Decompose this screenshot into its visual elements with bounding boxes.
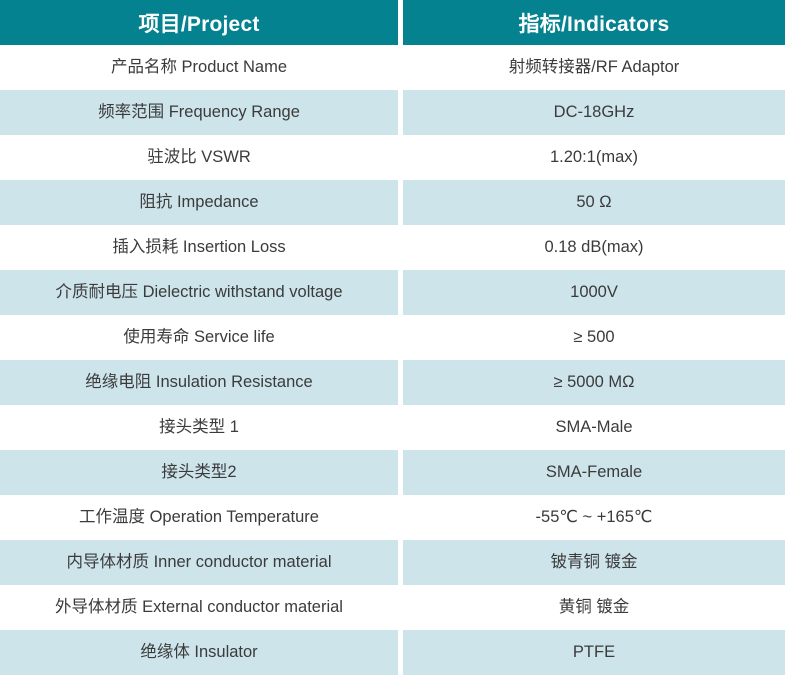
cell-project: 外导体材质 External conductor material (0, 585, 398, 630)
cell-indicator: 铍青铜 镀金 (403, 540, 785, 585)
cell-project: 介质耐电压 Dielectric withstand voltage (0, 270, 398, 315)
cell-indicator: DC-18GHz (403, 90, 785, 135)
table-row: 阻抗 Impedance50 Ω (0, 180, 800, 225)
table-row: 产品名称 Product Name射频转接器/RF Adaptor (0, 45, 800, 90)
cell-indicator: 1.20:1(max) (403, 135, 785, 180)
cell-right-margin (785, 540, 800, 585)
cell-indicator: ≥ 5000 MΩ (403, 360, 785, 405)
table-row: 工作温度 Operation Temperature-55℃ ~ +165℃ (0, 495, 800, 540)
cell-right-margin (785, 495, 800, 540)
table-row: 绝缘体 InsulatorPTFE (0, 630, 800, 675)
table-body: 产品名称 Product Name射频转接器/RF Adaptor频率范围 Fr… (0, 45, 800, 675)
cell-right-margin (785, 270, 800, 315)
right-margin-spacer (785, 0, 800, 45)
cell-project: 产品名称 Product Name (0, 45, 398, 90)
cell-right-margin (785, 630, 800, 675)
cell-project: 频率范围 Frequency Range (0, 90, 398, 135)
table-row: 介质耐电压 Dielectric withstand voltage1000V (0, 270, 800, 315)
cell-indicator: SMA-Female (403, 450, 785, 495)
cell-right-margin (785, 405, 800, 450)
column-header-project: 项目/Project (0, 0, 398, 45)
cell-indicator: 射频转接器/RF Adaptor (403, 45, 785, 90)
table-row: 外导体材质 External conductor material黄铜 镀金 (0, 585, 800, 630)
cell-project: 工作温度 Operation Temperature (0, 495, 398, 540)
table-row: 驻波比 VSWR1.20:1(max) (0, 135, 800, 180)
specification-table: 项目/Project 指标/Indicators 产品名称 Product Na… (0, 0, 800, 675)
cell-project: 驻波比 VSWR (0, 135, 398, 180)
cell-indicator: 0.18 dB(max) (403, 225, 785, 270)
cell-indicator: SMA-Male (403, 405, 785, 450)
cell-project: 阻抗 Impedance (0, 180, 398, 225)
table-row: 内导体材质 Inner conductor material铍青铜 镀金 (0, 540, 800, 585)
cell-right-margin (785, 135, 800, 180)
cell-project: 内导体材质 Inner conductor material (0, 540, 398, 585)
cell-indicator: 1000V (403, 270, 785, 315)
cell-right-margin (785, 360, 800, 405)
cell-right-margin (785, 225, 800, 270)
cell-project: 接头类型2 (0, 450, 398, 495)
cell-indicator: 50 Ω (403, 180, 785, 225)
cell-right-margin (785, 315, 800, 360)
cell-project: 插入损耗 Insertion Loss (0, 225, 398, 270)
table-row: 使用寿命 Service life≥ 500 (0, 315, 800, 360)
cell-project: 绝缘电阻 Insulation Resistance (0, 360, 398, 405)
cell-indicator: ≥ 500 (403, 315, 785, 360)
table-row: 接头类型 1SMA-Male (0, 405, 800, 450)
table-header: 项目/Project 指标/Indicators (0, 0, 800, 45)
table-row: 插入损耗 Insertion Loss0.18 dB(max) (0, 225, 800, 270)
table-row: 频率范围 Frequency RangeDC-18GHz (0, 90, 800, 135)
cell-right-margin (785, 180, 800, 225)
cell-right-margin (785, 45, 800, 90)
cell-right-margin (785, 90, 800, 135)
cell-indicator: PTFE (403, 630, 785, 675)
cell-right-margin (785, 585, 800, 630)
cell-project: 接头类型 1 (0, 405, 398, 450)
table-row: 接头类型2SMA-Female (0, 450, 800, 495)
table-header-row: 项目/Project 指标/Indicators (0, 0, 800, 45)
cell-indicator: -55℃ ~ +165℃ (403, 495, 785, 540)
column-header-indicators: 指标/Indicators (403, 0, 785, 45)
cell-project: 绝缘体 Insulator (0, 630, 398, 675)
cell-right-margin (785, 450, 800, 495)
cell-indicator: 黄铜 镀金 (403, 585, 785, 630)
table-row: 绝缘电阻 Insulation Resistance≥ 5000 MΩ (0, 360, 800, 405)
cell-project: 使用寿命 Service life (0, 315, 398, 360)
